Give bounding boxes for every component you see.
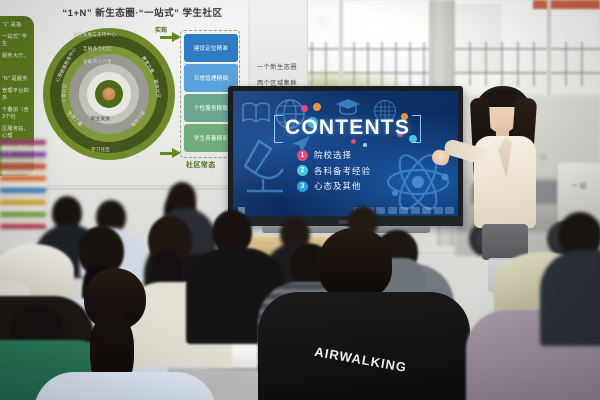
toc-number-badge: 1 <box>297 150 308 161</box>
poster-bottom-note: 社区常态 <box>186 160 216 170</box>
toc-number-badge: 2 <box>297 165 308 176</box>
microscope-icon <box>237 135 295 201</box>
toc-item[interactable]: 2 各科备考经验 <box>297 165 371 177</box>
outcome-box: 建设定位精准 <box>184 34 238 62</box>
accent-dot-orange <box>313 103 321 111</box>
poster-green-line: “1” 是指 <box>2 22 30 29</box>
smart-display[interactable]: CONTENTS 1 院校选择 2 各科备考经验 3 心态及其他 <box>228 86 463 226</box>
accent-dot-pink <box>351 139 356 144</box>
toc-label: 院校选择 <box>314 149 352 161</box>
toc-item[interactable]: 1 院校选择 <box>297 149 371 161</box>
title-bracket-left <box>274 115 283 143</box>
poster-green-line: “N” 是服务 <box>2 76 30 83</box>
ring-label: 学生发展与支持中心 <box>73 32 116 38</box>
ring-label: 凝聚育人力量 <box>83 59 112 65</box>
poster-green-line: 管理平台的多 <box>2 88 30 102</box>
ecosystem-ring-diagram: 学生发展与支持中心 心理健康教育中心 互融多元社区 凝聚育人力量 心育社区 学习… <box>43 28 175 160</box>
book-icon <box>241 101 271 125</box>
accent-dot-light <box>363 143 367 147</box>
toc-number-badge: 3 <box>297 181 308 192</box>
toolbar-settings-icon[interactable] <box>434 207 443 214</box>
display-bezel-bottom <box>228 216 463 226</box>
toolbar-apps-icon[interactable] <box>388 207 397 214</box>
toolbar-write-icon[interactable] <box>399 207 408 214</box>
accent-dot-pink <box>301 105 308 112</box>
toolbar-home-icon[interactable] <box>376 207 385 214</box>
poster-green-line: 服务大厅。 <box>2 53 30 60</box>
poster-green-line: 个叠加（含3个社 <box>2 107 30 121</box>
ring-center-label: 职业发展 <box>91 116 110 122</box>
signboard-text: 一站 <box>558 163 600 192</box>
ring-label: 学习社区 <box>91 147 110 153</box>
poster-green-line: 区服务站、心理 <box>2 126 30 140</box>
graduation-cap-icon <box>335 97 361 117</box>
presentation-slide[interactable]: CONTENTS 1 院校选择 2 各科备考经验 3 心态及其他 <box>233 91 458 216</box>
toolbar-volume-icon[interactable] <box>422 207 431 214</box>
title-bracket-right <box>412 115 421 143</box>
window-pillar <box>429 0 455 96</box>
toolbar-capture-icon[interactable] <box>411 207 420 214</box>
poster-green-line: 一站式” 学生 <box>2 34 30 48</box>
book-stack <box>0 140 46 235</box>
ring-label: 互融多元社区 <box>83 46 112 52</box>
toc-item[interactable]: 3 心态及其他 <box>297 180 371 192</box>
poster-title: “1+N” 新生态圈·“一站式” 学生社区 <box>40 5 245 19</box>
wall-slogan-line1: 一个新生态圈 <box>247 62 307 71</box>
slide-toc-list: 1 院校选择 2 各科备考经验 3 心态及其他 <box>297 149 371 196</box>
outdoor-awning <box>533 0 600 9</box>
photo-scene: 平济办一站 一站 一个新生态圈 两个区域集群 “1+N” 新生态圈·“一站式” … <box>0 0 600 400</box>
slide-title: CONTENTS <box>285 117 410 139</box>
poster-arrow-label: 实现 <box>155 25 167 34</box>
ring-center-avatar <box>103 88 116 101</box>
toc-label: 各科备考经验 <box>314 165 371 177</box>
toolbar-power-icon[interactable] <box>445 207 454 214</box>
toc-label: 心态及其他 <box>314 180 362 192</box>
wall-slogan-panel: 一个新生态圈 两个区域集群 <box>247 0 308 96</box>
slide-title-block: CONTENTS <box>285 117 405 139</box>
